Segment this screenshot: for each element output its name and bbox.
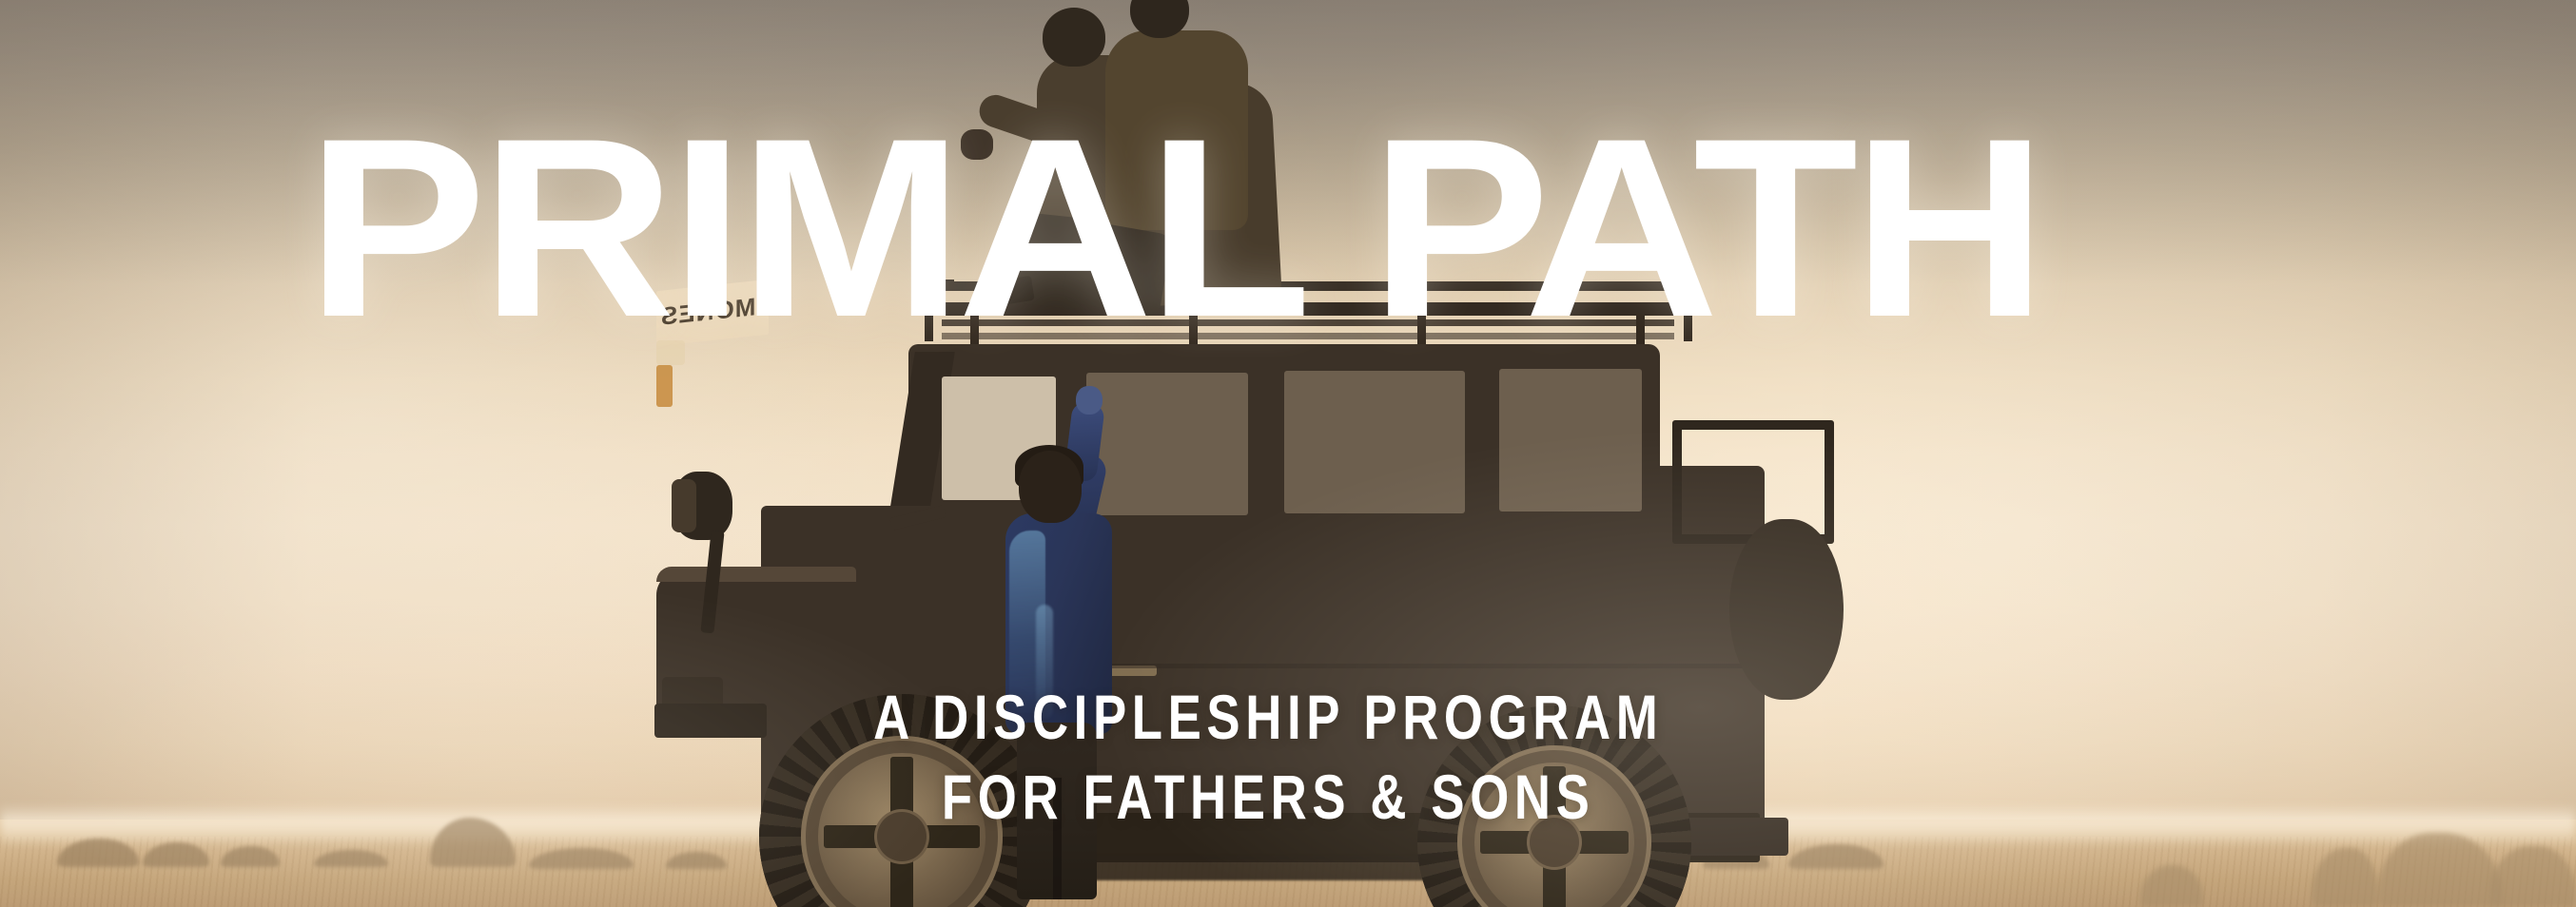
light-lens bbox=[672, 479, 696, 532]
body-seam bbox=[1086, 664, 1752, 668]
subtitle: A DISCIPLESHIP PROGRAM FOR FATHERS & SON… bbox=[238, 677, 2298, 838]
spare-tire bbox=[1729, 519, 1844, 700]
subtitle-line-1: A DISCIPLESHIP PROGRAM bbox=[238, 677, 2298, 757]
hero-banner: BRGMONES bbox=[0, 0, 2576, 907]
boy-hand bbox=[1076, 386, 1103, 415]
page-title: PRIMAL PATH bbox=[306, 106, 2041, 349]
roof-figure-a-head bbox=[1043, 8, 1105, 67]
wheel-spoke bbox=[890, 854, 913, 907]
turn-indicator bbox=[656, 365, 673, 407]
window-rear-quarter bbox=[1499, 369, 1642, 511]
window-rear-side bbox=[1284, 371, 1465, 513]
subtitle-line-2: FOR FATHERS & SONS bbox=[238, 757, 2298, 837]
boy-head bbox=[1019, 451, 1082, 523]
vehicle-bonnet-edge bbox=[656, 567, 856, 582]
